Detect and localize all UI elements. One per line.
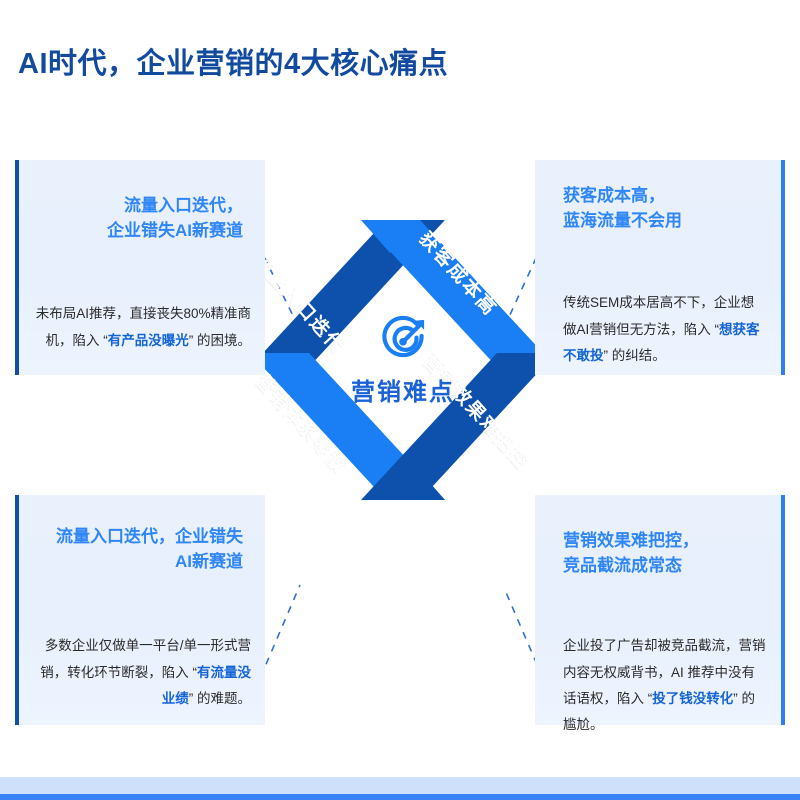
card-body-post: ” 的困境。 [189,333,251,348]
pain-point-card-top-right: 获客成本高， 蓝海流量不会用 传统SEM成本居高不下，企业想做AI营销但无方法，… [535,160,785,375]
card-body: 未布局AI推荐，直接丧失80%精准商机，陷入 “有产品没曝光” 的困境。 [29,275,251,354]
footer-band [0,777,800,794]
card-heading: 营销效果难把控， 竞品截流成常态 [563,529,699,578]
card-body-post: ” 的难题。 [189,691,251,706]
pain-point-card-bottom-left: 流量入口迭代，企业错失 AI新赛道 多数企业仅做单一平台/单一形式营销，转化环节… [15,495,265,725]
page-title: AI时代，企业营销的4大核心痛点 [18,40,448,82]
infographic-canvas: AI时代，企业营销的4大核心痛点 流量入口迭代 获客成本高 营销体系零散 营销效… [0,0,800,800]
pain-point-card-bottom-right: 营销效果难把控， 竞品截流成常态 企业投了广告却被竞品截流，营销内容无权威背书，… [535,495,785,725]
card-heading: 获客成本高， 蓝海流量不会用 [563,184,682,233]
card-body-post: ” 的纠结。 [604,348,666,363]
center-label: 营销难点 [351,372,455,407]
target-arrow-icon [376,314,430,368]
card-body-highlight: 投了钱没转化 [652,691,733,706]
card-body: 企业投了广告却被竞品截流，营销内容无权威背书，AI 推荐中没有话语权，陷入 “投… [563,607,767,739]
card-body: 传统SEM成本居高不下，企业想做AI营销但无方法，陷入 “想获客不敢投” 的纠结… [563,264,765,369]
card-body: 多数企业仅做单一平台/单一形式营销，转化环节断裂，陷入 “有流量没业绩” 的难题… [29,607,251,712]
card-heading: 流量入口迭代， 企业错失AI新赛道 [107,194,243,243]
footer-accent-bar [0,794,800,800]
diamond-center: 营销难点 [238,195,568,525]
card-heading: 流量入口迭代，企业错失 AI新赛道 [56,525,243,574]
pain-point-card-top-left: 流量入口迭代， 企业错失AI新赛道 未布局AI推荐，直接丧失80%精准商机，陷入… [15,160,265,375]
card-body-highlight: 有产品没曝光 [108,333,189,348]
